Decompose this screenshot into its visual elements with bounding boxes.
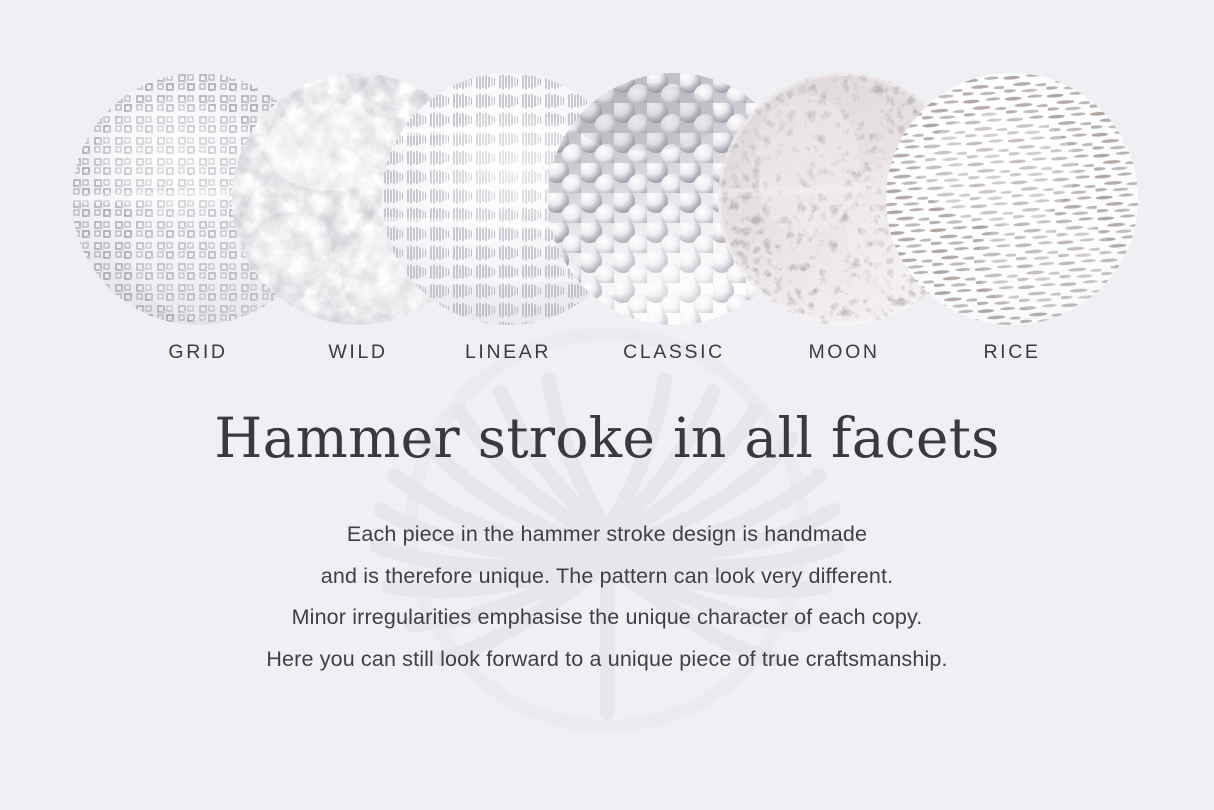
swatch-label-moon: MOON: [808, 341, 879, 364]
description-line-3: Minor irregularities emphasise the uniqu…: [0, 597, 1214, 639]
description-paragraph: Each piece in the hammer stroke design i…: [0, 472, 1214, 680]
page-title: Hammer stroke in all facets: [0, 404, 1214, 472]
swatch-label-classic: CLASSIC: [623, 341, 725, 364]
rice-texture-swatch: [886, 73, 1138, 325]
swatch-label-wild: WILD: [328, 341, 387, 364]
swatch-label-rice: RICE: [984, 341, 1041, 364]
pattern-swatch-row: GRID: [0, 0, 1214, 370]
hammer-stroke-feature-panel: GRID: [0, 0, 1214, 810]
description-line-1: Each piece in the hammer stroke design i…: [0, 514, 1214, 556]
pattern-swatch-rice[interactable]: RICE: [886, 73, 1138, 325]
feature-copy-block: Hammer stroke in all facets Each piece i…: [0, 404, 1214, 680]
description-line-4: Here you can still look forward to a uni…: [0, 639, 1214, 681]
swatch-label-linear: LINEAR: [465, 341, 551, 364]
description-line-2: and is therefore unique. The pattern can…: [0, 556, 1214, 598]
swatch-label-grid: GRID: [168, 341, 227, 364]
